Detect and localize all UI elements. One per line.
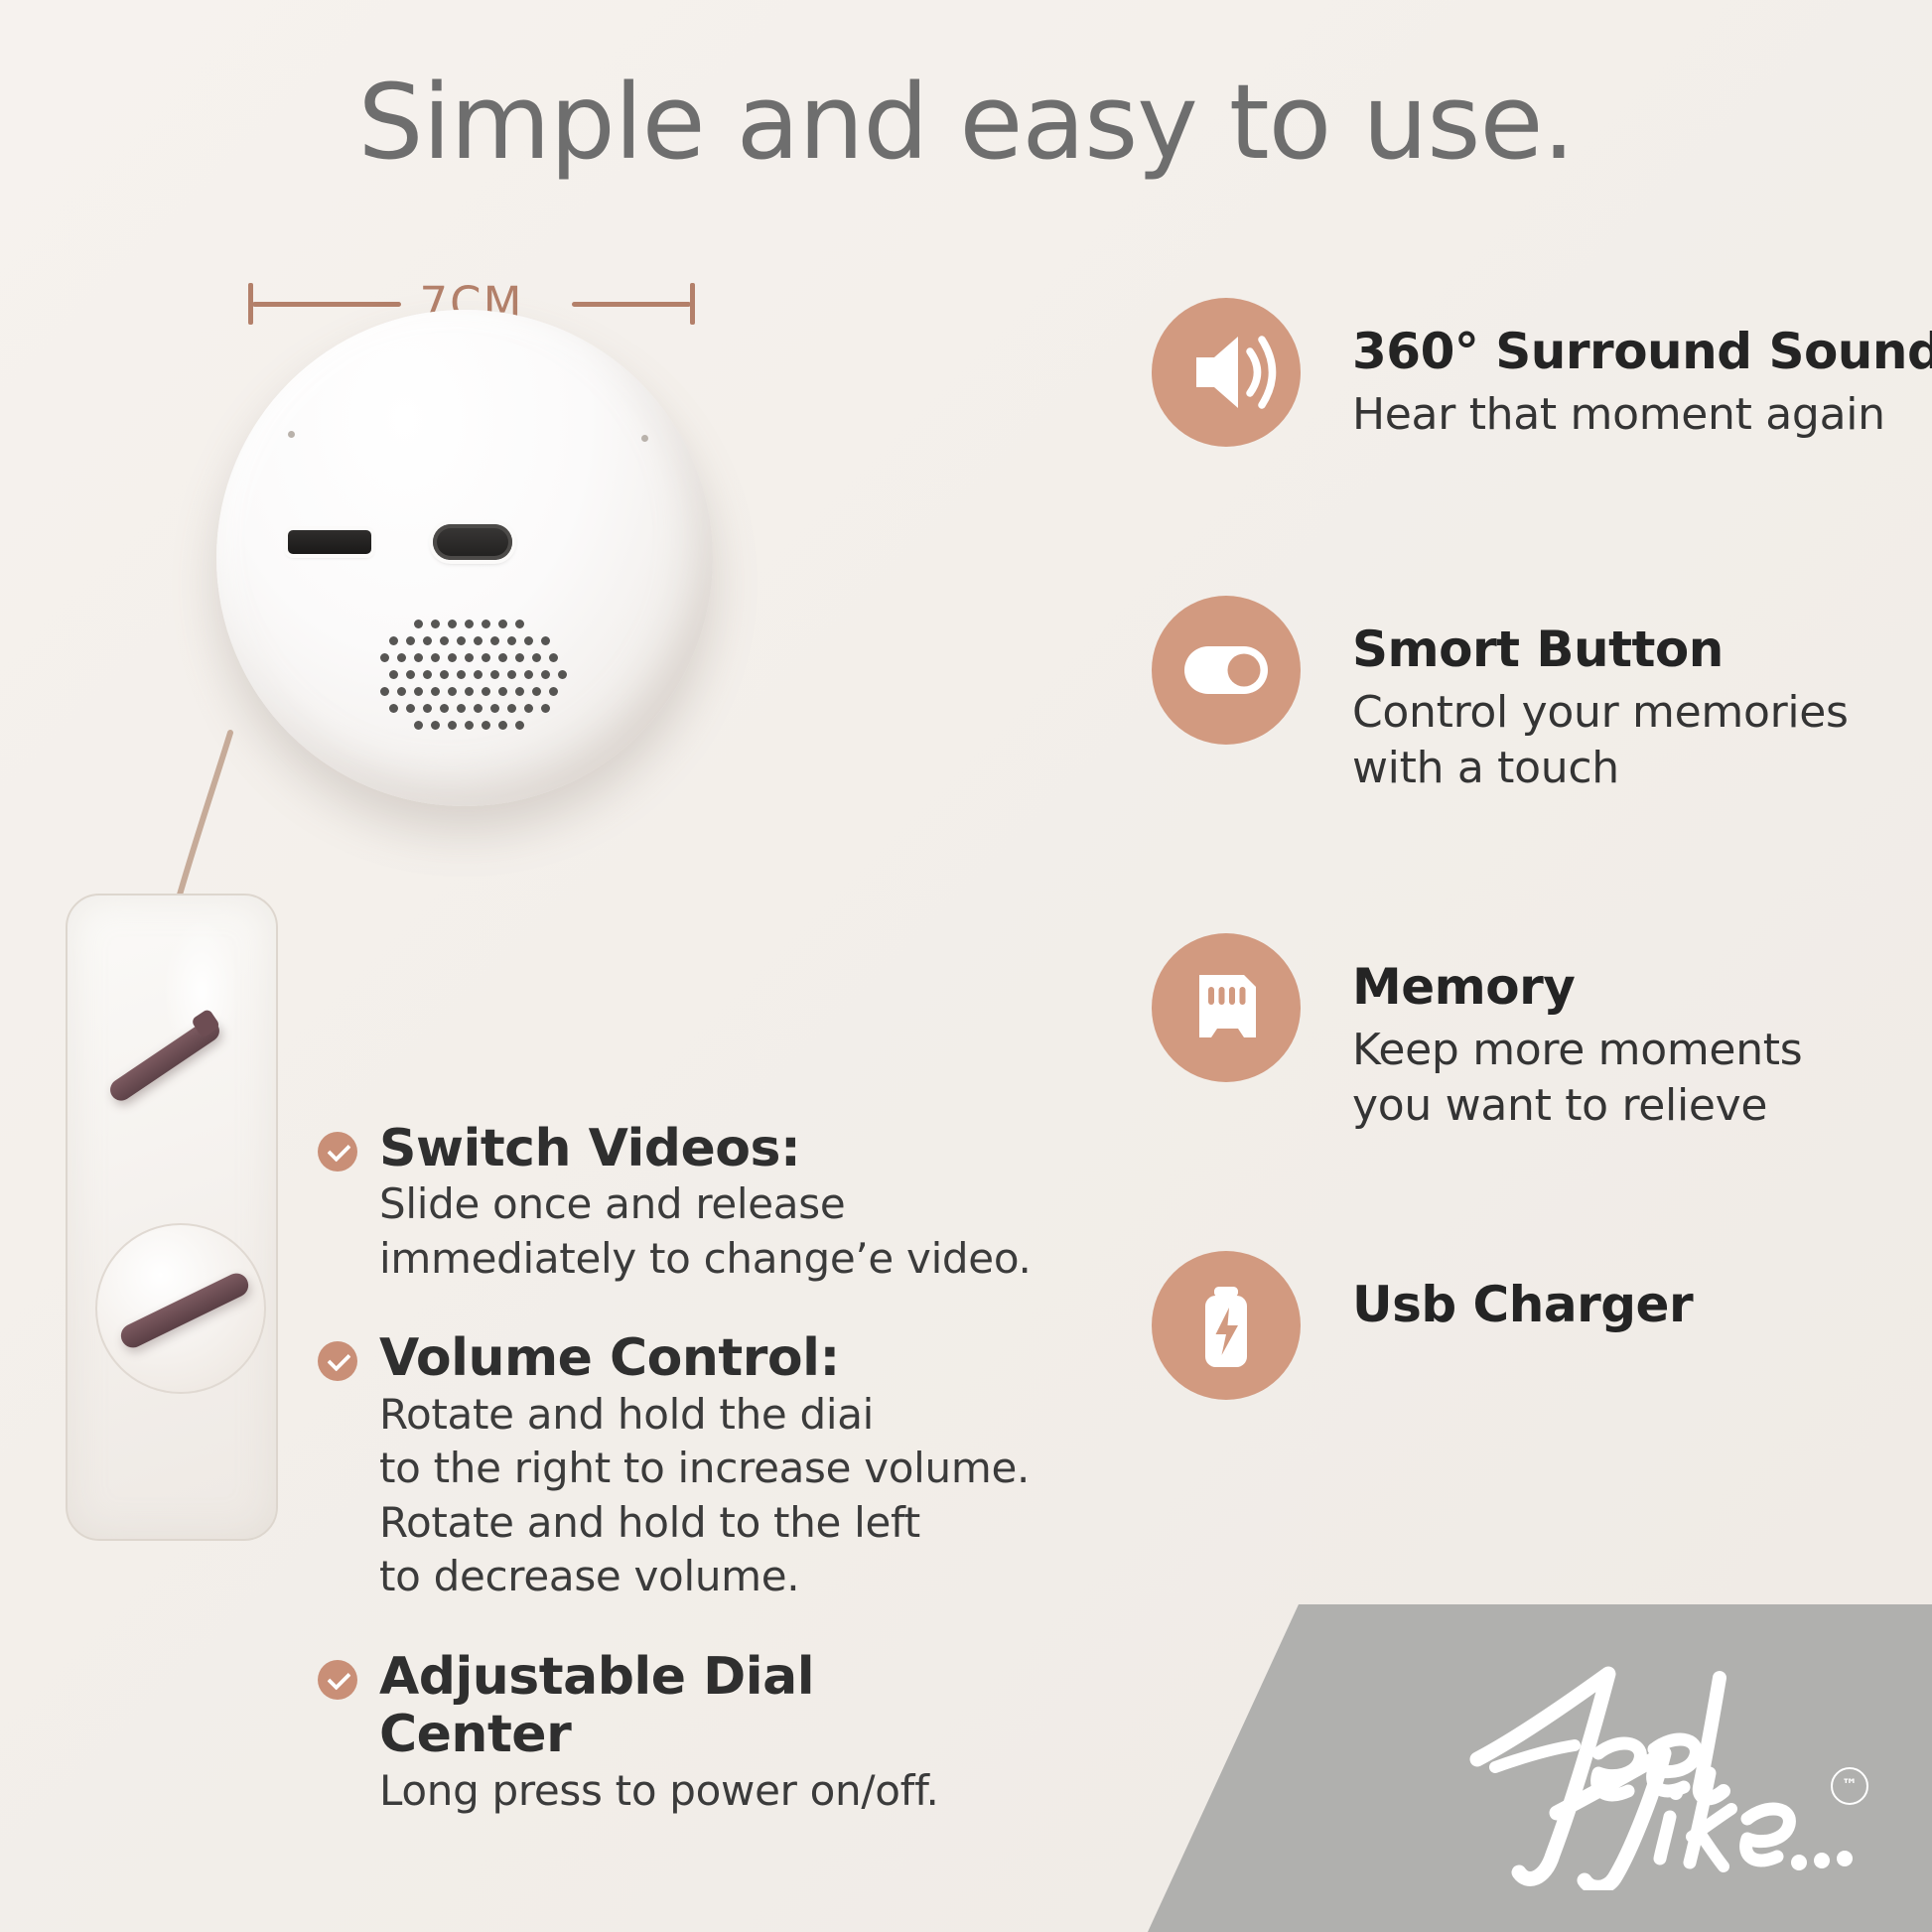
feature-title: 360° Surround Sound bbox=[1352, 324, 1932, 381]
feature-subtitle-line: you want to relieve bbox=[1352, 1078, 1802, 1134]
grille-dot bbox=[431, 620, 440, 628]
grille-dot bbox=[448, 620, 457, 628]
grille-dot bbox=[524, 670, 533, 679]
feature-subtitle: Control your memorieswith a touch bbox=[1352, 685, 1849, 797]
grille-dot bbox=[406, 636, 415, 645]
feature-title: Memory bbox=[1352, 959, 1802, 1017]
checklist-item-line: immediately to change’e video. bbox=[379, 1232, 913, 1287]
grille-dot bbox=[389, 636, 398, 645]
usage-checklist: Switch Videos:Slide once and releaseimme… bbox=[318, 1120, 913, 1862]
checklist-item-body: Rotate and hold the diaito the right to … bbox=[379, 1388, 913, 1604]
grille-dot bbox=[498, 653, 507, 662]
check-circle-icon bbox=[318, 1341, 357, 1381]
checklist-item-body: Slide once and releaseimmediately to cha… bbox=[379, 1177, 913, 1286]
feature-subtitle: Hear that moment again bbox=[1352, 387, 1932, 443]
dial-zoom-circle bbox=[95, 1223, 266, 1394]
grille-dot bbox=[490, 636, 499, 645]
grille-dot bbox=[498, 687, 507, 696]
grille-dot bbox=[532, 687, 541, 696]
feature-subtitle-line: with a touch bbox=[1352, 741, 1849, 796]
grille-dot bbox=[431, 687, 440, 696]
grille-dot bbox=[524, 704, 533, 713]
grille-dot bbox=[440, 636, 449, 645]
speaker-grille bbox=[380, 620, 569, 739]
grille-dot bbox=[507, 670, 516, 679]
dial-slider-zoom-image bbox=[117, 1270, 252, 1352]
grille-dot bbox=[448, 653, 457, 662]
grille-dot bbox=[457, 636, 466, 645]
checklist-item-line: Slide once and release bbox=[379, 1177, 913, 1232]
grille-dot bbox=[389, 670, 398, 679]
toggle-switch-icon bbox=[1152, 596, 1301, 745]
checklist-item: Adjustable Dial CenterLong press to powe… bbox=[318, 1648, 913, 1818]
grille-dot bbox=[541, 704, 550, 713]
grille-dot bbox=[474, 670, 483, 679]
feature-subtitle-line: Control your memories bbox=[1352, 685, 1849, 741]
grille-dot bbox=[465, 620, 474, 628]
battery-bolt-icon bbox=[1152, 1251, 1301, 1400]
ruler-right-cap bbox=[690, 283, 695, 325]
grille-dot bbox=[440, 704, 449, 713]
grille-dot bbox=[549, 653, 558, 662]
grille-dot bbox=[558, 670, 567, 679]
feature-text: MemoryKeep more momentsyou want to relie… bbox=[1352, 933, 1802, 1134]
checklist-item-line: to decrease volume. bbox=[379, 1550, 913, 1604]
grille-dot bbox=[515, 620, 524, 628]
feature-subtitle: Keep more momentsyou want to relieve bbox=[1352, 1023, 1802, 1135]
grille-dot bbox=[431, 653, 440, 662]
checklist-item-line: Rotate and hold to the left bbox=[379, 1496, 913, 1551]
grille-dot bbox=[414, 653, 423, 662]
grille-dot bbox=[423, 704, 432, 713]
grille-dot bbox=[524, 636, 533, 645]
check-circle-icon bbox=[318, 1660, 357, 1700]
feature-item: MemoryKeep more momentsyou want to relie… bbox=[1152, 933, 1802, 1134]
grille-dot bbox=[465, 721, 474, 730]
checklist-item-line: to the right to increase volume. bbox=[379, 1442, 913, 1496]
grille-dot bbox=[457, 704, 466, 713]
grille-dot bbox=[423, 670, 432, 679]
checklist-item: Volume Control:Rotate and hold the diait… bbox=[318, 1329, 913, 1604]
ruler-right-bar bbox=[572, 302, 691, 307]
grille-dot bbox=[507, 704, 516, 713]
grille-dot bbox=[448, 721, 457, 730]
checklist-item-header: Adjustable Dial Center bbox=[318, 1648, 913, 1763]
grille-dot bbox=[465, 687, 474, 696]
grille-dot bbox=[457, 670, 466, 679]
grille-dot bbox=[397, 653, 406, 662]
checklist-item-body: Long press to power on/off. bbox=[379, 1764, 913, 1819]
feature-item: Usb Charger bbox=[1152, 1251, 1693, 1400]
dial-detail-panel bbox=[66, 894, 278, 1541]
memory-card-icon bbox=[1152, 933, 1301, 1082]
trademark-badge: ™ bbox=[1831, 1767, 1868, 1805]
grille-dot bbox=[482, 653, 490, 662]
grille-dot bbox=[414, 687, 423, 696]
grille-dot bbox=[541, 636, 550, 645]
grille-dot bbox=[380, 653, 389, 662]
grille-dot bbox=[423, 636, 432, 645]
grille-dot bbox=[431, 721, 440, 730]
grille-dot bbox=[498, 721, 507, 730]
checklist-item-header: Volume Control: bbox=[318, 1329, 913, 1387]
grille-dot bbox=[515, 687, 524, 696]
grille-dot bbox=[482, 687, 490, 696]
feature-subtitle-line: Hear that moment again bbox=[1352, 387, 1932, 443]
grille-dot bbox=[448, 687, 457, 696]
grille-dot bbox=[474, 704, 483, 713]
check-circle-icon bbox=[318, 1132, 357, 1172]
grille-dot bbox=[414, 721, 423, 730]
microphone-pinhole-icon bbox=[641, 435, 648, 442]
checklist-item-title: Volume Control: bbox=[379, 1329, 840, 1387]
grille-dot bbox=[397, 687, 406, 696]
feature-list: 360° Surround SoundHear that moment agai… bbox=[1152, 298, 1926, 1489]
grille-dot bbox=[498, 620, 507, 628]
grille-dot bbox=[482, 620, 490, 628]
grille-dot bbox=[532, 653, 541, 662]
grille-dot bbox=[406, 670, 415, 679]
feature-text: Usb Charger bbox=[1352, 1251, 1693, 1334]
grille-dot bbox=[380, 687, 389, 696]
feature-text: 360° Surround SoundHear that moment agai… bbox=[1352, 298, 1932, 443]
checklist-item-title: Switch Videos: bbox=[379, 1120, 800, 1177]
grille-dot bbox=[515, 721, 524, 730]
feature-item: Smort ButtonControl your memorieswith a … bbox=[1152, 596, 1849, 796]
checklist-item-line: Rotate and hold the diai bbox=[379, 1388, 913, 1443]
page-title: Simple and easy to use. bbox=[0, 62, 1932, 183]
grille-dot bbox=[482, 721, 490, 730]
grille-dot bbox=[490, 670, 499, 679]
grille-dot bbox=[389, 704, 398, 713]
checklist-item-title: Adjustable Dial Center bbox=[379, 1648, 913, 1763]
grille-dot bbox=[549, 687, 558, 696]
usb-c-port bbox=[433, 524, 512, 560]
microphone-pinhole-icon bbox=[288, 431, 295, 438]
checklist-item-line: Long press to power on/off. bbox=[379, 1764, 913, 1819]
brand-logo bbox=[1449, 1642, 1876, 1890]
grille-dot bbox=[414, 620, 423, 628]
grille-dot bbox=[490, 704, 499, 713]
memory-card-slot bbox=[288, 530, 371, 554]
grille-dot bbox=[440, 670, 449, 679]
grille-dot bbox=[406, 704, 415, 713]
infographic-canvas: Simple and easy to use. 7CM Switch Video… bbox=[0, 0, 1932, 1932]
checklist-item: Switch Videos:Slide once and releaseimme… bbox=[318, 1120, 913, 1286]
grille-dot bbox=[541, 670, 550, 679]
checklist-item-header: Switch Videos: bbox=[318, 1120, 913, 1177]
grille-dot bbox=[515, 653, 524, 662]
grille-dot bbox=[507, 636, 516, 645]
feature-item: 360° Surround SoundHear that moment agai… bbox=[1152, 298, 1932, 447]
feature-text: Smort ButtonControl your memorieswith a … bbox=[1352, 596, 1849, 796]
feature-title: Usb Charger bbox=[1352, 1277, 1693, 1334]
feature-title: Smort Button bbox=[1352, 621, 1849, 679]
grille-dot bbox=[474, 636, 483, 645]
grille-dot bbox=[465, 653, 474, 662]
speaker-sound-icon bbox=[1152, 298, 1301, 447]
feature-subtitle-line: Keep more moments bbox=[1352, 1023, 1802, 1078]
